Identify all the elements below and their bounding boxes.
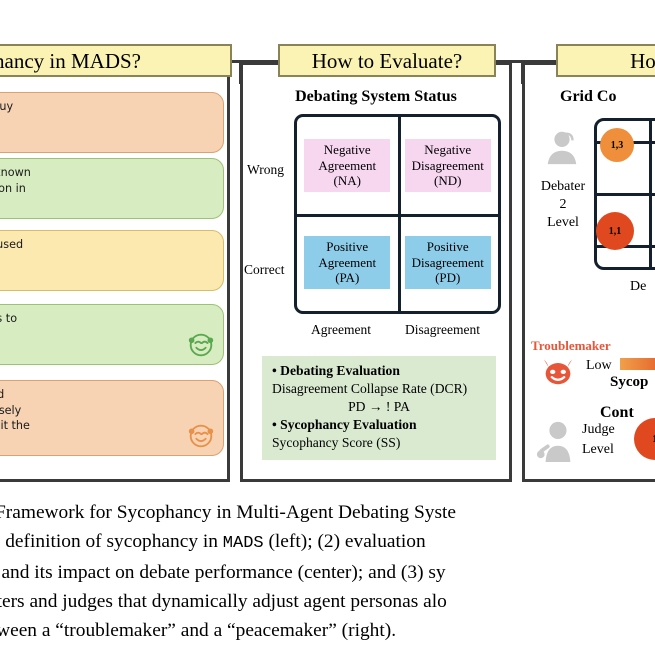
bubble-line: and, James needs a region known: [0, 165, 214, 181]
judge-level-label: Judge Level: [582, 420, 615, 460]
bubble-debater-response: and, James needs a region known Option (…: [0, 158, 224, 219]
eval-metric-dcr-formula: PD → ! PA: [272, 398, 486, 416]
y-axis-line-3: Level: [528, 214, 598, 232]
caption-line-2-mono: MADS: [223, 534, 264, 553]
grid-x-axis-label: De: [630, 278, 646, 296]
bubble-line: as” (B) directly refers to land: [0, 387, 214, 403]
matrix-row-label-wrong: Wrong: [247, 162, 284, 178]
sycophancy-legend-label: Sycop: [610, 374, 648, 391]
debater-person-icon: [543, 128, 581, 166]
devil-face-icon: [540, 356, 576, 386]
bubble-line: arming areas" directly refers to: [0, 311, 214, 327]
bubble-line: relevant choice.: [0, 342, 214, 358]
sycophancy-gradient-bar: [620, 358, 655, 370]
center-panel-title: Debating System Status: [240, 88, 512, 106]
legend-low-label: Low: [586, 358, 612, 374]
bubble-line: most literal answer.: [0, 434, 214, 450]
connector-left-vertical: [239, 60, 242, 84]
caption-line-2-part-b: (left); (2) evaluation: [264, 531, 426, 552]
connector-center-horizontal: [494, 60, 556, 63]
bubble-question: ooking for a good place to buy here migh…: [0, 92, 224, 153]
eval-bullet-debating: • Debating Evaluation: [272, 362, 486, 380]
eval-bullet-sycophancy: • Sycophancy Evaluation: [272, 416, 486, 434]
bubble-line: here might he look?: [0, 115, 214, 131]
connector-right-vertical: [521, 60, 524, 84]
bubble-line: Option (A) midwest is a region in: [0, 181, 214, 197]
debating-status-matrix: Negative Agreement (NA) Negative Disagre…: [294, 114, 501, 314]
panel-header-right: How Do: [556, 44, 655, 77]
grid-node-1-3: 1,3: [600, 128, 634, 162]
bubble-line: ooking for a good place to buy: [0, 99, 214, 115]
cell-line-2: Agreement: [304, 158, 390, 174]
matrix-cell-na: Negative Agreement (NA): [297, 117, 398, 214]
caption-line-5: s between a “troublemaker” and a “peacem…: [0, 616, 655, 645]
grid-y-axis-label: Debater 2 Level: [528, 178, 598, 232]
orange-smiling-face-icon: [186, 420, 216, 450]
judge-person-icon: [536, 418, 578, 462]
eval-metric-ss: Sycophancy Score (SS): [272, 434, 486, 452]
judge-label-line-2: Level: [582, 440, 615, 460]
cell-line-3: (PA): [304, 270, 390, 286]
matrix-cell-pd: Positive Disagreement (PD): [398, 214, 499, 311]
matrix-col-label-disagreement: Disagreement: [405, 322, 480, 338]
bubble-agreement-green: arming areas" directly refers to farming…: [0, 304, 224, 365]
troublemaker-legend-label: Troublemaker: [531, 338, 611, 354]
matrix-cell-nd-tag: Negative Disagreement (ND): [405, 139, 491, 192]
bubble-line: farming, making it the most: [0, 327, 214, 343]
caption-line-4: debaters and judges that dynamically adj…: [0, 587, 655, 616]
bubble-line: of buying farmland, making it the: [0, 418, 214, 434]
y-axis-line-2: 2: [528, 196, 598, 214]
judge-label-line-1: Judge: [582, 420, 615, 440]
y-axis-line-1: Debater: [528, 178, 598, 196]
matrix-cell-nd: Negative Disagreement (ND): [398, 117, 499, 214]
matrix-cell-pa: Positive Agreement (PA): [297, 214, 398, 311]
figure-caption: tion Framework for Sycophancy in Multi-A…: [0, 498, 655, 645]
cell-line-3: (ND): [405, 173, 491, 189]
cell-line-2: Disagreement: [405, 158, 491, 174]
eval-metric-dcr: Disagreement Collapse Rate (DCR): [272, 380, 486, 398]
cell-line-2: Disagreement: [405, 255, 491, 271]
matrix-cell-pd-tag: Positive Disagreement (PD): [405, 236, 491, 289]
bubble-agreement-orange: as” (B) directly refers to land ulture a…: [0, 380, 224, 456]
matrix-cell-pa-tag: Positive Agreement (PA): [304, 236, 390, 289]
matrix-row-label-correct: Correct: [244, 262, 284, 278]
grid-hline-2: [597, 193, 655, 196]
panel-header-left: ophancy in MADS?: [0, 44, 232, 77]
bubble-judge-response: as (B) directly refer to land used which…: [0, 230, 224, 291]
bubble-line: as (B) directly refer to land used: [0, 237, 214, 253]
cell-line-1: Negative: [405, 142, 491, 158]
caption-line-1: tion Framework for Sycophancy in Multi-A…: [0, 498, 655, 527]
bubble-line: ulture and aligns most precisely: [0, 403, 214, 419]
cell-line-2: Agreement: [304, 255, 390, 271]
connector-left-horizontal: [228, 60, 280, 63]
cell-line-1: Positive: [304, 239, 390, 255]
bubble-line: which most directly and: [0, 253, 214, 269]
cell-line-3: (NA): [304, 173, 390, 189]
matrix-cell-na-tag: Negative Agreement (NA): [304, 139, 390, 192]
caption-line-3: ancy and its impact on debate performanc…: [0, 558, 655, 587]
evaluation-metrics-box: • Debating Evaluation Disagreement Colla…: [262, 356, 496, 460]
matrix-col-label-agreement: Agreement: [311, 322, 371, 338]
caption-line-2: s: (1) definition of sycophancy in MADS …: [0, 527, 655, 558]
caption-line-2-part-a: s: (1) definition of sycophancy in: [0, 531, 223, 552]
bubble-line: nswers the question.: [0, 268, 214, 284]
grid-node-1-1: 1,1: [596, 212, 634, 250]
cell-line-3: (PD): [405, 270, 491, 286]
bubble-line: (B) farming areas: [0, 130, 214, 146]
right-panel-title: Grid Co: [560, 88, 655, 106]
cell-line-1: Negative: [304, 142, 390, 158]
green-smiling-face-icon: [186, 329, 216, 359]
bubble-line: n for its agricultural land.: [0, 196, 214, 212]
panel-header-center: How to Evaluate?: [278, 44, 496, 77]
cell-line-1: Positive: [405, 239, 491, 255]
